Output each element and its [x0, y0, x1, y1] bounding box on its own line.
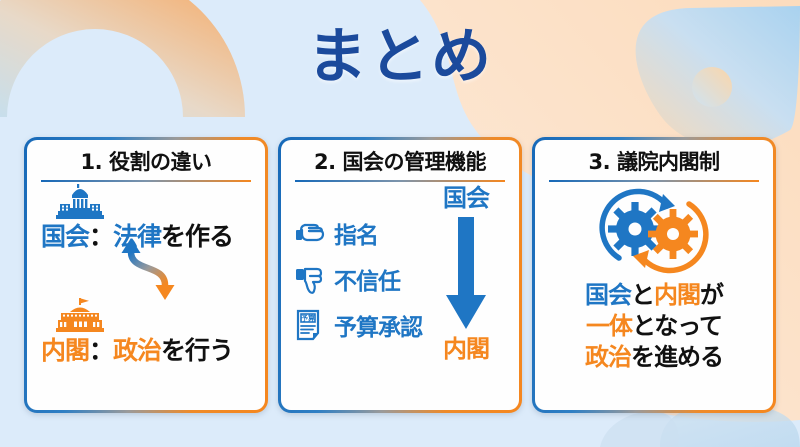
card-oversight-inner: 2. 国会の管理機能 [281, 140, 519, 410]
cabinet-label: 内閣 [41, 336, 89, 365]
blue-gear [608, 202, 662, 256]
summary-particle: が [700, 281, 723, 309]
summary-text: 国会と内閣が 一体となって 政治を進める [543, 280, 765, 373]
list-item-label: 指名 [334, 216, 378, 250]
card-parliamentary-cabinet: 3. 議院内閣制 [532, 137, 776, 413]
oversight-flow: 国会 内閣 [427, 184, 505, 363]
summary-line-2: 一体となって [543, 311, 765, 342]
summary-line-3: 政治を進める [543, 342, 765, 373]
orange-gear [648, 209, 698, 259]
card-oversight: 2. 国会の管理機能 [278, 137, 522, 413]
page-title: まとめ [0, 22, 800, 92]
card-oversight-body: 指名 不信任 [289, 182, 511, 396]
flow-from-label: 国会 [427, 184, 505, 212]
diet-label: 国会 [41, 222, 89, 251]
card-parliamentary-cabinet-title: 3. 議院内閣制 [543, 149, 765, 175]
down-arrow-icon [440, 215, 492, 333]
cabinet-role-text: 内閣：政治を行う [41, 336, 257, 366]
two-gears-cycle-icon [579, 182, 729, 280]
summary-cabinet: 内閣 [654, 281, 700, 309]
card-roles-title: 1. 役割の違い [35, 149, 257, 175]
slide-canvas: まとめ 1. 役割の違い [0, 0, 800, 447]
card-roles: 1. 役割の違い [24, 137, 268, 413]
summary-unity-tail: となって [632, 312, 722, 340]
summary-diet: 国会 [585, 281, 631, 309]
oversight-list: 指名 不信任 [293, 210, 422, 348]
card-oversight-title: 2. 国会の管理機能 [289, 149, 511, 175]
cabinet-row: 内閣：政治を行う [35, 298, 257, 366]
flow-to-label: 内閣 [427, 335, 505, 363]
list-item-label: 予算承認 [334, 308, 422, 342]
card-parliamentary-cabinet-inner: 3. 議院内閣制 [535, 140, 773, 410]
diet-colon: ： [89, 222, 113, 251]
summary-politics-tail: を進める [631, 343, 723, 371]
cabinet-building-icon [53, 298, 107, 336]
list-item-label: 不信任 [334, 262, 400, 296]
summary-politics: 政治 [585, 343, 631, 371]
pointing-hand-icon [293, 216, 327, 250]
summary-unity: 一体 [586, 312, 632, 340]
summary-and: と [631, 281, 654, 309]
list-item: 不信任 [293, 256, 422, 302]
cabinet-suffix: を行う [161, 336, 233, 365]
list-item: 指名 [293, 210, 422, 256]
s-curve-double-arrow-icon [117, 238, 195, 300]
card-roles-body: 国会：法律を作る [35, 182, 257, 396]
diet-building-icon [53, 184, 107, 222]
card-roles-inner: 1. 役割の違い [27, 140, 265, 410]
card-row: 1. 役割の違い [24, 137, 776, 413]
cabinet-keyword: 政治 [113, 336, 161, 365]
thumbs-down-icon [293, 262, 327, 296]
budget-icon-text: 予算 [301, 314, 315, 323]
summary-line-1: 国会と内閣が [543, 280, 765, 311]
list-item: 予算 予算承認 [293, 302, 422, 348]
card-parliamentary-cabinet-body: 国会と内閣が 一体となって 政治を進める [543, 182, 765, 396]
cabinet-colon: ： [89, 336, 113, 365]
budget-document-icon: 予算 [293, 308, 327, 342]
